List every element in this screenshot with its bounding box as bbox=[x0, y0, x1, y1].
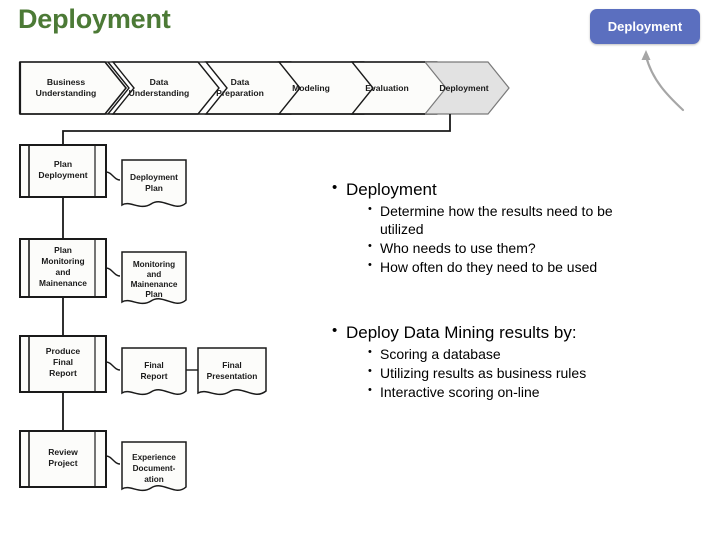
task-0-line-0: Plan bbox=[54, 159, 72, 169]
task-box-plan-deployment[interactable]: Plan Deployment bbox=[20, 145, 106, 197]
banner-to-flow-connector bbox=[63, 114, 450, 145]
task-2-line-2: Report bbox=[49, 368, 77, 378]
phase-label-4-line1: Evaluation bbox=[365, 83, 408, 93]
phase-label-1-line1: Data bbox=[150, 77, 169, 87]
document-4-line-1: Document- bbox=[133, 464, 176, 473]
task-1-line-0: Plan bbox=[54, 245, 72, 255]
bullet-item-2-0: Scoring a database bbox=[366, 346, 710, 364]
content-group-1: Deployment Determine how the results nee… bbox=[330, 180, 710, 278]
task-box-plan-monitoring-and-maintenance[interactable]: Plan Monitoring and Mainenance bbox=[20, 239, 106, 297]
phase-label-1-line2: Understanding bbox=[129, 88, 190, 98]
phase-label-5-line1: Deployment bbox=[439, 83, 488, 93]
bullet-item-1-0-l2: utilized bbox=[380, 221, 424, 237]
task-box-review-project[interactable]: Review Project bbox=[20, 431, 106, 487]
task-0-line-1: Deployment bbox=[38, 170, 87, 180]
document-0-line-1: Plan bbox=[145, 183, 163, 193]
document-1-line-1: and bbox=[147, 270, 162, 279]
task-1-line-3: Mainenance bbox=[39, 278, 87, 288]
bullet-item-2-1: Utilizing results as business rules bbox=[366, 365, 710, 383]
document-final-report[interactable]: Final Report bbox=[122, 348, 186, 394]
document-3-line-1: Presentation bbox=[207, 371, 258, 381]
bullet-sublist-2: Scoring a database Utilizing results as … bbox=[366, 346, 710, 402]
document-1-line-2: Mainenance bbox=[131, 280, 178, 289]
task-box-produce-final-report[interactable]: Produce Final Report bbox=[20, 336, 106, 392]
task-1-line-1: Monitoring bbox=[41, 256, 84, 266]
document-final-presentation[interactable]: Final Presentation bbox=[198, 348, 266, 394]
document-monitoring-and-maintenance-plan[interactable]: Monitoring and Mainenance Plan bbox=[122, 252, 186, 303]
connector-task3-doc4 bbox=[106, 456, 120, 464]
task-1-line-2: and bbox=[56, 267, 71, 277]
task-3-line-0: Review bbox=[48, 447, 78, 457]
bullet-item-1-2: How often do they need to be used bbox=[366, 259, 710, 277]
phase-label-2-line2: Preparation bbox=[216, 88, 264, 98]
phase-label-0-line2: Understanding bbox=[36, 88, 97, 98]
bullet-item-1-0: Determine how the results need to beutil… bbox=[366, 203, 710, 239]
task-3-line-1: Project bbox=[48, 458, 77, 468]
bullet-item-1-0-l1: Determine how the results need to be bbox=[380, 203, 613, 219]
document-experience-documentation[interactable]: Experience Document- ation bbox=[122, 442, 186, 490]
bullet-item-2-2: Interactive scoring on-line bbox=[366, 384, 710, 402]
document-4-line-2: ation bbox=[144, 475, 164, 484]
phase-label-2-line1: Data bbox=[231, 77, 250, 87]
content-group-2: Deploy Data Mining results by: Scoring a… bbox=[330, 323, 710, 403]
document-4-line-0: Experience bbox=[132, 453, 176, 462]
document-2-line-0: Final bbox=[144, 360, 164, 370]
document-2-line-1: Report bbox=[141, 371, 168, 381]
phase-label-0-line1: Business bbox=[47, 77, 85, 87]
bullet-item-1-1: Who needs to use them? bbox=[366, 240, 710, 258]
task-2-line-0: Produce bbox=[46, 346, 81, 356]
document-deployment-plan[interactable]: Deployment Plan bbox=[122, 160, 186, 206]
bullet-heading-1: Deployment bbox=[330, 180, 710, 200]
document-1-line-3: Plan bbox=[145, 290, 162, 299]
document-1-line-0: Monitoring bbox=[133, 260, 175, 269]
connector-task1-doc1 bbox=[106, 268, 120, 276]
bullet-sublist-1: Determine how the results need to beutil… bbox=[366, 203, 710, 277]
document-0-line-0: Deployment bbox=[130, 172, 178, 182]
phase-label-3-line1: Modeling bbox=[292, 83, 330, 93]
bullet-heading-2: Deploy Data Mining results by: bbox=[330, 323, 710, 343]
connector-task2-doc2 bbox=[106, 362, 120, 370]
curved-up-arrow bbox=[642, 50, 684, 110]
connector-task0-doc0 bbox=[106, 172, 120, 180]
slide-canvas: Deployment Deployment bbox=[0, 0, 720, 540]
document-3-line-0: Final bbox=[222, 360, 242, 370]
task-2-line-1: Final bbox=[53, 357, 73, 367]
